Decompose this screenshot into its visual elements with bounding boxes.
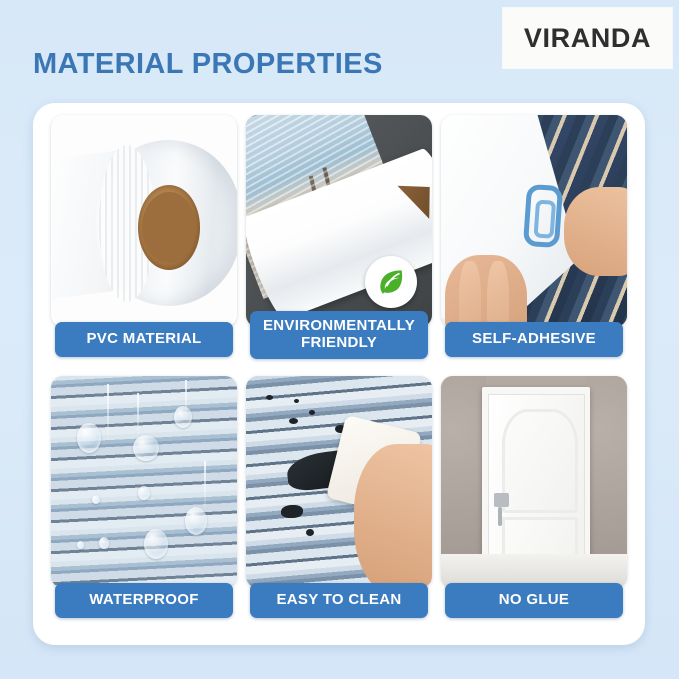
self-adhesive-image [441, 115, 627, 327]
easy-to-clean-image [246, 376, 432, 588]
feature-card-easy-to-clean[interactable]: EASY TO CLEAN [246, 376, 432, 624]
feature-label-self-adhesive: SELF-ADHESIVE [445, 322, 623, 357]
hand-left [445, 255, 527, 327]
feature-label-environmentally-friendly: ENVIRONMENTALLY FRIENDLY [250, 311, 428, 359]
features-grid: PVC MATERIAL ENVIRONMENTALLY FRIENDLY [51, 115, 627, 633]
pvc-roll-image [51, 115, 237, 327]
feature-card-no-glue[interactable]: NO GLUE [441, 376, 627, 624]
feature-card-environmentally-friendly[interactable]: ENVIRONMENTALLY FRIENDLY [246, 115, 432, 363]
eco-roll-image [246, 115, 432, 327]
brand-name: VIRANDA [524, 23, 651, 54]
page-title: MATERIAL PROPERTIES [33, 48, 383, 81]
label-line-1: ENVIRONMENTALLY [263, 317, 415, 334]
hand-right [564, 187, 627, 276]
feature-card-self-adhesive[interactable]: SELF-ADHESIVE [441, 115, 627, 363]
paperclip-icon [523, 184, 563, 248]
label-line-2: FRIENDLY [301, 334, 377, 351]
features-panel: PVC MATERIAL ENVIRONMENTALLY FRIENDLY [33, 103, 645, 645]
feature-label-no-glue: NO GLUE [445, 583, 623, 618]
hand-holding-cloth [354, 444, 432, 588]
feature-label-easy-to-clean: EASY TO CLEAN [250, 583, 428, 618]
feature-label-pvc-material: PVC MATERIAL [55, 322, 233, 357]
feature-card-pvc-material[interactable]: PVC MATERIAL [51, 115, 237, 363]
feature-label-waterproof: WATERPROOF [55, 583, 233, 618]
waterproof-image [51, 376, 237, 588]
no-glue-image [441, 376, 627, 588]
door-icon [482, 387, 590, 569]
brand-logo-box: VIRANDA [503, 8, 672, 68]
leaf-icon [365, 256, 417, 308]
feature-card-waterproof[interactable]: WATERPROOF [51, 376, 237, 624]
